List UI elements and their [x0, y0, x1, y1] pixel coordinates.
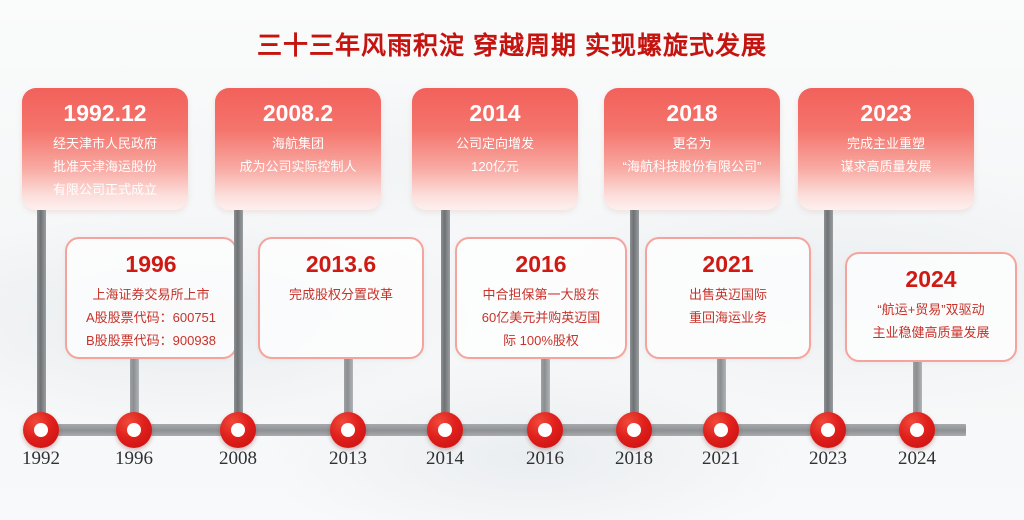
milestone-description: 上海证券交易所上市A股股票代码：600751B股股票代码：900938 — [75, 284, 227, 352]
milestone-description-line: 经天津市人民政府 — [30, 133, 180, 156]
milestone-description-line: 际 100%股权 — [465, 330, 617, 353]
milestone-description: “航运+贸易”双驱动主业稳健高质量发展 — [855, 299, 1007, 345]
timeline-marker-2014[interactable] — [427, 412, 463, 448]
milestone-year: 2018 — [612, 100, 772, 126]
milestone-year: 2021 — [655, 251, 801, 277]
page-title: 三十三年风雨积淀 穿越周期 实现螺旋式发展 — [0, 26, 1024, 62]
milestone-description-line: 主业稳健高质量发展 — [855, 322, 1007, 345]
milestone-description-line: 中合担保第一大股东 — [465, 284, 617, 307]
timeline-marker-2016[interactable] — [527, 412, 563, 448]
milestone-description-line: 出售英迈国际 — [655, 284, 801, 307]
milestone-card-2023[interactable]: 2023完成主业重塑谋求高质量发展 — [798, 88, 974, 210]
milestone-card-1992-12[interactable]: 1992.12经天津市人民政府批准天津海运股份有限公司正式成立 — [22, 88, 188, 210]
milestone-description-line: A股股票代码：600751 — [75, 307, 227, 330]
milestone-description-line: 有限公司正式成立 — [30, 179, 180, 202]
milestone-description: 海航集团成为公司实际控制人 — [223, 133, 373, 179]
milestone-year: 2016 — [465, 251, 617, 277]
timeline-marker-2024[interactable] — [899, 412, 935, 448]
milestone-description-line: 成为公司实际控制人 — [223, 156, 373, 179]
milestone-description-line: “海航科技股份有限公司” — [612, 156, 772, 179]
axis-year-label-2021: 2021 — [676, 448, 766, 470]
axis-year-label-2023: 2023 — [783, 448, 873, 470]
connector-stem-2014 — [441, 210, 450, 430]
milestone-description-line: 60亿美元并购英迈国 — [465, 307, 617, 330]
connector-stem-2018 — [630, 210, 639, 430]
timeline-marker-1992[interactable] — [23, 412, 59, 448]
milestone-description: 公司定向增发120亿元 — [420, 133, 570, 179]
milestone-card-2008-2[interactable]: 2008.2海航集团成为公司实际控制人 — [215, 88, 381, 210]
axis-year-label-2008: 2008 — [193, 448, 283, 470]
axis-year-label-2014: 2014 — [400, 448, 490, 470]
timeline-marker-2018[interactable] — [616, 412, 652, 448]
milestone-description-line: 公司定向增发 — [420, 133, 570, 156]
timeline-marker-2013[interactable] — [330, 412, 366, 448]
milestone-description: 中合担保第一大股东60亿美元并购英迈国际 100%股权 — [465, 284, 617, 352]
milestone-card-2021[interactable]: 2021出售英迈国际重回海运业务 — [645, 237, 811, 359]
milestone-card-2024[interactable]: 2024“航运+贸易”双驱动主业稳健高质量发展 — [845, 252, 1017, 362]
milestone-year: 1996 — [75, 251, 227, 277]
milestone-description: 经天津市人民政府批准天津海运股份有限公司正式成立 — [30, 133, 180, 201]
milestone-description: 完成股权分置改革 — [268, 284, 414, 307]
milestone-card-2018[interactable]: 2018更名为“海航科技股份有限公司” — [604, 88, 780, 210]
timeline-marker-2021[interactable] — [703, 412, 739, 448]
milestone-year: 2008.2 — [223, 100, 373, 126]
milestone-card-1996[interactable]: 1996上海证券交易所上市A股股票代码：600751B股股票代码：900938 — [65, 237, 237, 359]
timeline-marker-2023[interactable] — [810, 412, 846, 448]
timeline-marker-1996[interactable] — [116, 412, 152, 448]
milestone-description: 更名为“海航科技股份有限公司” — [612, 133, 772, 179]
timeline-marker-2008[interactable] — [220, 412, 256, 448]
milestone-description-line: 重回海运业务 — [655, 307, 801, 330]
milestone-card-2014[interactable]: 2014公司定向增发120亿元 — [412, 88, 578, 210]
milestone-description-line: “航运+贸易”双驱动 — [855, 299, 1007, 322]
milestone-year: 2023 — [806, 100, 966, 126]
axis-year-label-2016: 2016 — [500, 448, 590, 470]
milestone-description-line: B股股票代码：900938 — [75, 330, 227, 353]
milestone-year: 2014 — [420, 100, 570, 126]
connector-stem-2023 — [824, 210, 833, 430]
milestone-description-line: 完成主业重塑 — [806, 133, 966, 156]
milestone-card-2013-6[interactable]: 2013.6完成股权分置改革 — [258, 237, 424, 359]
axis-year-label-2018: 2018 — [589, 448, 679, 470]
milestone-year: 2024 — [855, 266, 1007, 292]
milestone-year: 1992.12 — [30, 100, 180, 126]
milestone-description-line: 批准天津海运股份 — [30, 156, 180, 179]
axis-year-label-2024: 2024 — [872, 448, 962, 470]
axis-year-label-2013: 2013 — [303, 448, 393, 470]
milestone-year: 2013.6 — [268, 251, 414, 277]
connector-stem-2008-2 — [234, 210, 243, 430]
milestone-description-line: 上海证券交易所上市 — [75, 284, 227, 307]
milestone-description-line: 120亿元 — [420, 156, 570, 179]
timeline-infographic: 三十三年风雨积淀 穿越周期 实现螺旋式发展 1992.12经天津市人民政府批准天… — [0, 0, 1024, 520]
milestone-description: 完成主业重塑谋求高质量发展 — [806, 133, 966, 179]
axis-year-label-1996: 1996 — [89, 448, 179, 470]
milestone-description-line: 谋求高质量发展 — [806, 156, 966, 179]
milestone-description: 出售英迈国际重回海运业务 — [655, 284, 801, 330]
milestone-card-2016[interactable]: 2016中合担保第一大股东60亿美元并购英迈国际 100%股权 — [455, 237, 627, 359]
axis-year-label-1992: 1992 — [0, 448, 86, 470]
milestone-description-line: 海航集团 — [223, 133, 373, 156]
milestone-description-line: 更名为 — [612, 133, 772, 156]
connector-stem-1992-12 — [37, 210, 46, 430]
milestone-description-line: 完成股权分置改革 — [268, 284, 414, 307]
